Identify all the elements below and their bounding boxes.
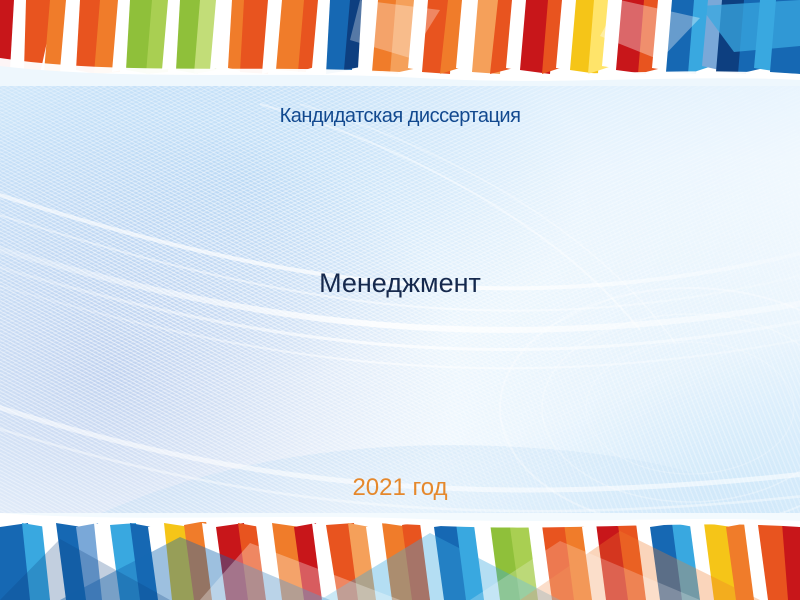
slide-title: Кандидатская диссертация <box>0 106 800 127</box>
decorative-band-bottom <box>0 513 800 600</box>
presentation-title-slide: Кандидатская диссертация Менеджмент 2021… <box>0 0 800 600</box>
background-mesh-hatch-right <box>0 0 800 600</box>
slide-year: 2021 год <box>0 474 800 502</box>
decorative-band-top <box>0 0 800 86</box>
slide-subtitle: Менеджмент <box>0 268 800 299</box>
